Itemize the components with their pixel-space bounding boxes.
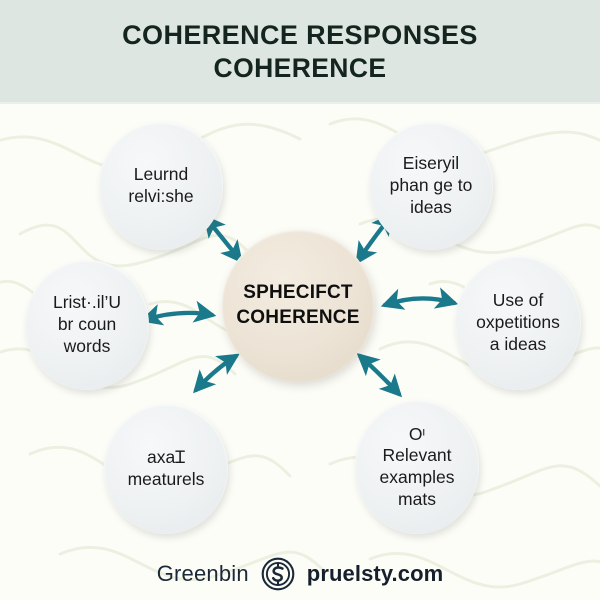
node-center-label: SPHECIFCT COHERENCE [228,281,367,330]
header-band: COHERENCE RESPONSES COHERENCE [0,0,600,104]
page-title-line-1: COHERENCE RESPONSES [122,18,478,53]
node-top-right[interactable]: Eiseryil phan ge to ideas [369,122,493,250]
footer-brand-name: Greenbin [157,561,249,587]
arrow-center-left [144,313,212,320]
diagram-page: COHERENCE RESPONSES COHERENCE [0,0,600,600]
node-top-left-label: Leurnd relvi:she [120,164,201,207]
footer: Greenbin pruelsty.com [0,548,600,600]
arrow-center-right [385,298,454,305]
node-center[interactable]: SPHECIFCT COHERENCE [222,230,374,382]
node-bottom-right-label: Oᶦ Relevant examples mats [372,424,463,511]
page-title-line-2: COHERENCE [214,52,387,86]
node-right-label: Use of oxpetitions a ideas [468,290,568,355]
node-top-left[interactable]: Leurnd relvi:she [99,122,223,250]
node-left[interactable]: Lrist·.il’U br coun words [25,260,149,390]
arrow-center-bottom-left [196,356,236,390]
node-bottom-left-label: axaꞮ meaturels [120,447,213,490]
arrow-center-bottom-right [360,356,399,394]
node-bottom-left[interactable]: axaꞮ meaturels [104,404,228,534]
node-right[interactable]: Use of oxpetitions a ideas [455,256,581,390]
node-bottom-right[interactable]: Oᶦ Relevant examples mats [355,400,479,534]
arrow-center-top-left [206,218,240,260]
circular-swirl-logo [260,556,296,592]
node-left-label: Lrist·.il’U br coun words [45,292,129,357]
footer-domain-text: pruelsty.com [307,561,444,587]
node-top-right-label: Eiseryil phan ge to ideas [382,153,481,218]
diagram-stage: SPHECIFCT COHERENCE Leurnd relvi:she Eis… [0,104,600,554]
